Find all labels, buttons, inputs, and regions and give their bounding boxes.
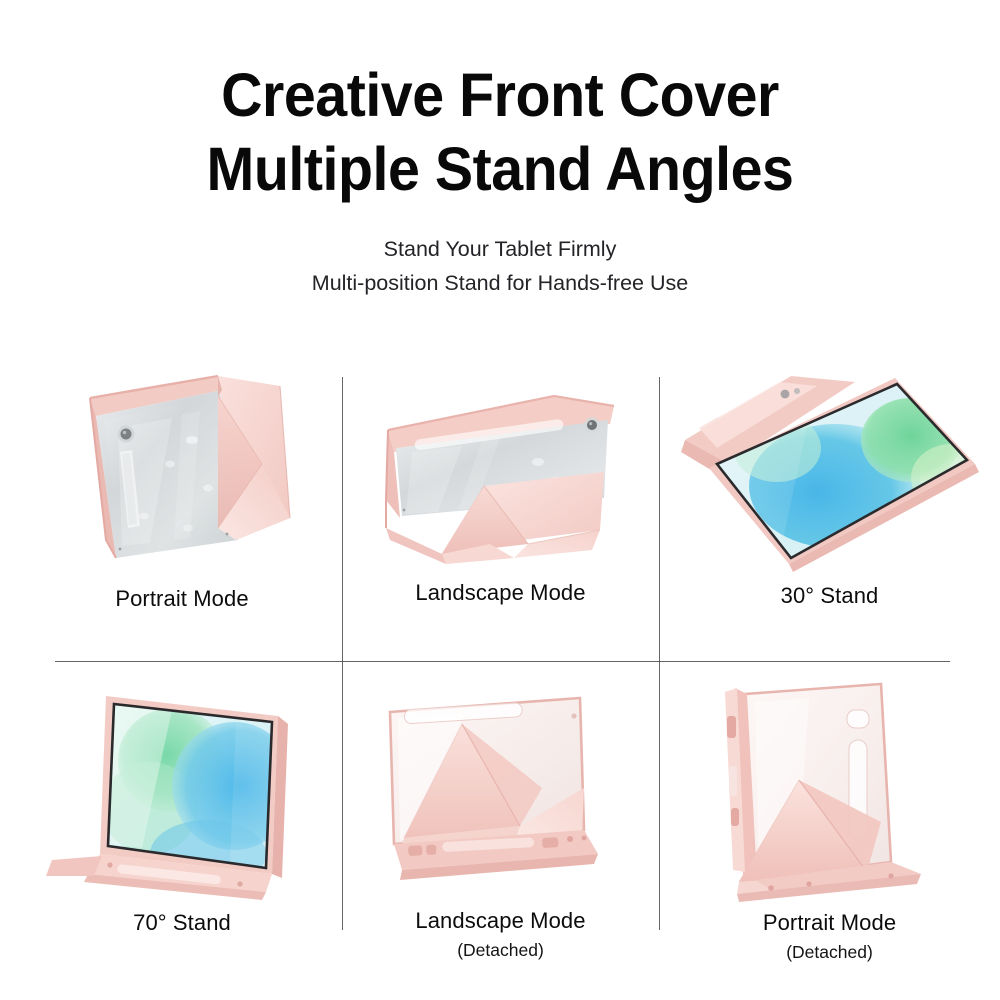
subtitle-line-1: Stand Your Tablet Firmly <box>0 232 1000 266</box>
grid-cell-portrait-detached: Portrait Mode (Detached) <box>659 658 1000 928</box>
product-feature-page: Creative Front Cover Multiple Stand Angl… <box>0 0 1000 1000</box>
grid-cell-stand-30: 30° Stand <box>659 368 1000 618</box>
origami-stand-fold <box>218 376 290 540</box>
tablet-case-portrait-illustration <box>22 368 342 583</box>
cell-sublabel: (Detached) <box>342 940 659 961</box>
camera-module <box>584 417 600 433</box>
grid-cell-portrait-mode: Portrait Mode <box>22 368 342 618</box>
page-headline: Creative Front Cover Multiple Stand Angl… <box>30 58 970 206</box>
grid-cell-stand-70: 70° Stand <box>22 668 342 928</box>
cell-label: Portrait Mode <box>659 910 1000 936</box>
case-landscape-detached-illustration <box>342 668 659 898</box>
cell-label: 70° Stand <box>22 910 342 936</box>
headline-line-2: Multiple Stand Angles <box>30 132 970 206</box>
tablet-case-landscape-illustration <box>342 368 659 578</box>
page-subtitle: Stand Your Tablet Firmly Multi-position … <box>0 232 1000 300</box>
cell-label: 30° Stand <box>659 583 1000 609</box>
cell-label: Landscape Mode <box>342 580 659 606</box>
tablet-stand-70-illustration <box>22 668 342 908</box>
cell-label: Landscape Mode <box>342 908 659 934</box>
cell-sublabel: (Detached) <box>659 942 1000 963</box>
headline-line-1: Creative Front Cover <box>30 58 970 132</box>
cell-label: Portrait Mode <box>22 586 342 612</box>
subtitle-line-2: Multi-position Stand for Hands-free Use <box>0 266 1000 300</box>
tablet-stand-30-illustration <box>659 368 1000 583</box>
grid-cell-landscape-mode: Landscape Mode <box>342 368 659 618</box>
grid-cell-landscape-detached: Landscape Mode (Detached) <box>342 668 659 928</box>
camera-module <box>118 426 135 443</box>
case-portrait-detached-illustration <box>659 658 1000 908</box>
camera-cutout <box>847 710 869 728</box>
